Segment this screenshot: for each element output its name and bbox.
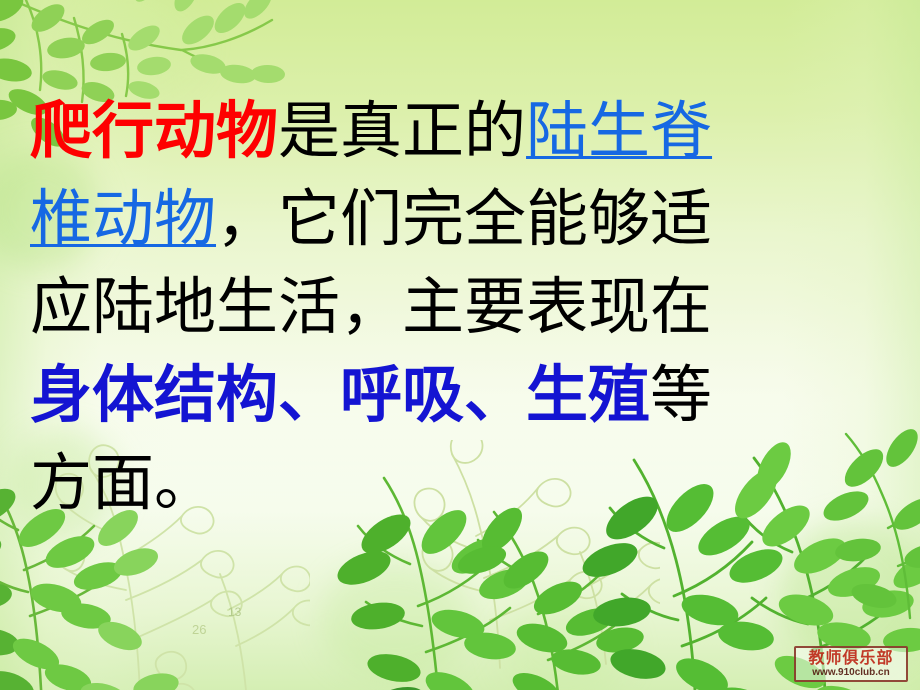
text-link-terrestrial-vertebrate-part2[interactable]: 椎动物 [30,186,216,254]
watermark-title: 教师俱乐部 [808,650,893,667]
text-segment-are-true: 是真正的 [278,98,526,166]
text-segment-reptiles: 爬行动物 [30,98,278,166]
art-number-13: 13 [228,605,241,619]
text-segment-aspects: 方面。 [30,450,216,518]
bokeh-blob-top-left [60,0,200,100]
text-line-3: 应陆地生活，主要表现在 [30,264,902,352]
slide-body-text: 爬行动物是真正的陆生脊 椎动物，它们完全能够适 应陆地生活，主要表现在 身体结构… [30,88,902,528]
watermark-url: www.910club.cn [812,667,889,679]
text-line-2: 椎动物，它们完全能够适 [30,176,902,264]
text-segment-they-fully-adapt: ，它们完全能够适 [216,186,712,254]
text-link-terrestrial-vertebrate-part1[interactable]: 陆生脊 [526,98,712,166]
watermark-badge: 教师俱乐部 www.910club.cn [794,646,908,682]
text-line-5: 方面。 [30,440,902,528]
text-segment-land-life-mainly-shown: 应陆地生活，主要表现在 [30,274,712,342]
text-line-4: 身体结构、呼吸、生殖等 [30,352,902,440]
art-number-26: 26 [192,622,206,637]
bokeh-blob-bottom-mid2 [500,600,630,690]
text-segment-etc: 等 [650,362,712,430]
text-segment-body-structure-respiration-reproduction: 身体结构、呼吸、生殖 [30,362,650,430]
slide-canvas: 26 13 爬行动物是真正的陆生脊 椎动物，它们完全能够适 应陆地生活，主要表现… [0,0,920,690]
text-line-1: 爬行动物是真正的陆生脊 [30,88,902,176]
bokeh-blob-bottom-mid [320,560,470,680]
